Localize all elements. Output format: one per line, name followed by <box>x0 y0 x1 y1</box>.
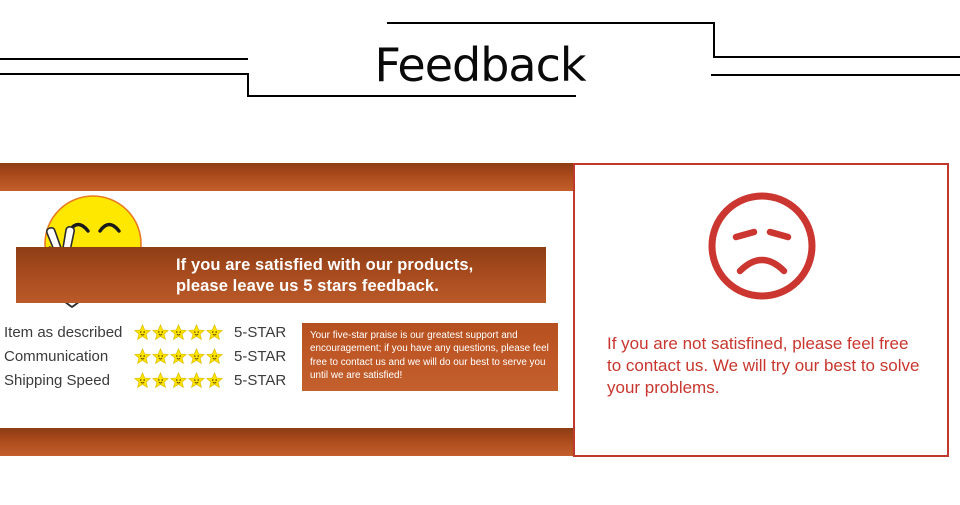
rating-row: Communication 5-STAR <box>4 344 296 368</box>
sad-face-icon <box>706 190 818 302</box>
yellow-smiley-star-icon <box>188 348 205 365</box>
rating-label: Communication <box>4 348 134 365</box>
praise-banner-line2: please leave us 5 stars feedback. <box>176 276 536 297</box>
feedback-page: Feedback <box>0 0 960 505</box>
yellow-smiley-star-icon <box>152 324 169 341</box>
yellow-smiley-star-icon <box>152 348 169 365</box>
rating-value: 5-STAR <box>228 372 286 389</box>
positive-feedback-panel: If you are satisfied with our products, … <box>0 163 574 457</box>
rating-label: Item as described <box>4 324 134 341</box>
yellow-smiley-star-icon <box>134 372 151 389</box>
praise-banner-line1: If you are satisfied with our products, <box>176 255 536 276</box>
header-rule-center-top <box>387 22 715 24</box>
rating-stars <box>134 324 228 341</box>
yellow-smiley-star-icon <box>206 324 223 341</box>
top-orange-band <box>0 163 574 191</box>
rating-row: Shipping Speed 5-STAR <box>4 368 296 392</box>
bottom-orange-band <box>0 428 574 456</box>
yellow-smiley-star-icon <box>152 372 169 389</box>
yellow-smiley-star-icon <box>206 372 223 389</box>
yellow-smiley-star-icon <box>170 324 187 341</box>
yellow-smiley-star-icon <box>170 348 187 365</box>
ratings-list: Item as described 5-STAR Communication <box>4 320 296 392</box>
yellow-smiley-star-icon <box>134 348 151 365</box>
page-title: Feedback <box>0 34 960 96</box>
rating-value: 5-STAR <box>228 348 286 365</box>
yellow-smiley-star-icon <box>206 348 223 365</box>
rating-stars <box>134 372 228 389</box>
rating-value: 5-STAR <box>228 324 286 341</box>
yellow-smiley-star-icon <box>188 372 205 389</box>
negative-message: If you are not satisfined, please feel f… <box>607 333 925 399</box>
yellow-smiley-star-icon <box>170 372 187 389</box>
yellow-smiley-star-icon <box>134 324 151 341</box>
praise-banner: If you are satisfied with our products, … <box>16 247 546 303</box>
rating-label: Shipping Speed <box>4 372 134 389</box>
five-star-info-box: Your five-star praise is our greatest su… <box>302 323 558 391</box>
negative-feedback-panel: If you are not satisfined, please feel f… <box>573 163 949 457</box>
rating-stars <box>134 348 228 365</box>
yellow-smiley-star-icon <box>188 324 205 341</box>
rating-row: Item as described 5-STAR <box>4 320 296 344</box>
praise-banner-text: If you are satisfied with our products, … <box>176 255 536 297</box>
